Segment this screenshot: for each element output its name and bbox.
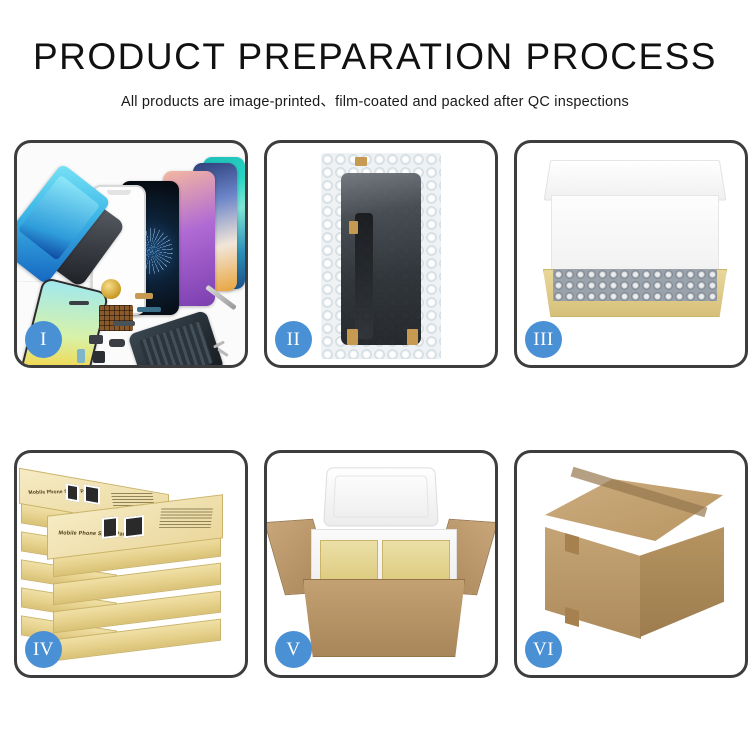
step-badge-1: I [25, 321, 62, 358]
process-step-grid: I II III [14, 140, 736, 685]
process-step-5: V [264, 450, 498, 678]
page-subtitle: All products are image-printed、film-coat… [0, 90, 750, 111]
small-part-b [89, 335, 103, 344]
carton-tape-lower [565, 607, 579, 627]
page-title: PRODUCT PREPARATION PROCESS [0, 38, 750, 77]
retail-box-group-right [382, 540, 450, 584]
wrapped-phone-part [341, 173, 421, 345]
step-badge-2: II [275, 321, 312, 358]
tape-bottom-right [407, 329, 418, 345]
carton-front-face [545, 527, 641, 639]
tape-bottom-left [347, 329, 358, 345]
process-step-1: I [14, 140, 248, 368]
small-part-f [135, 293, 153, 299]
phone-back-housing [127, 310, 224, 365]
box-speclines-front [159, 508, 213, 528]
bubble-wrap-bag [321, 153, 441, 359]
process-step-2: II [264, 140, 498, 368]
step-badge-6: VI [525, 631, 562, 668]
page-header: PRODUCT PREPARATION PROCESS All products… [0, 0, 750, 111]
foam-sheet [551, 195, 719, 271]
carton-body [303, 579, 465, 657]
step-badge-3: III [525, 321, 562, 358]
small-part-a [69, 301, 89, 305]
tape-middle [349, 221, 358, 234]
small-part-c [109, 339, 125, 347]
carton-tape-upper [565, 533, 579, 555]
small-part-d [77, 349, 85, 363]
small-part-g [137, 307, 161, 312]
process-step-6: VI [514, 450, 748, 678]
foam-box-lid [323, 467, 439, 526]
small-part-e [93, 351, 105, 363]
carton-side-face [640, 527, 724, 637]
process-step-4: Mobile Phone Spare Parts Mobile Phone Sp… [14, 450, 248, 678]
step-badge-5: V [275, 631, 312, 668]
flex-cable-grid [99, 305, 133, 331]
box-window-front-a [102, 516, 118, 539]
small-part-h [113, 321, 135, 326]
step-badge-4: IV [25, 631, 62, 668]
box-label-front: Mobile Phone Spare Parts [58, 530, 131, 537]
product-preparation-page: PRODUCT PREPARATION PROCESS All products… [0, 0, 750, 750]
bubble-wrap-layer [553, 269, 717, 301]
box-window-back-a [66, 483, 79, 502]
speaker-component [101, 279, 121, 299]
box-window-back-b [84, 484, 100, 505]
box-window-front-b [124, 515, 144, 538]
tape-top [355, 157, 367, 166]
retail-box-group-left [320, 540, 378, 584]
process-step-3: III [514, 140, 748, 368]
